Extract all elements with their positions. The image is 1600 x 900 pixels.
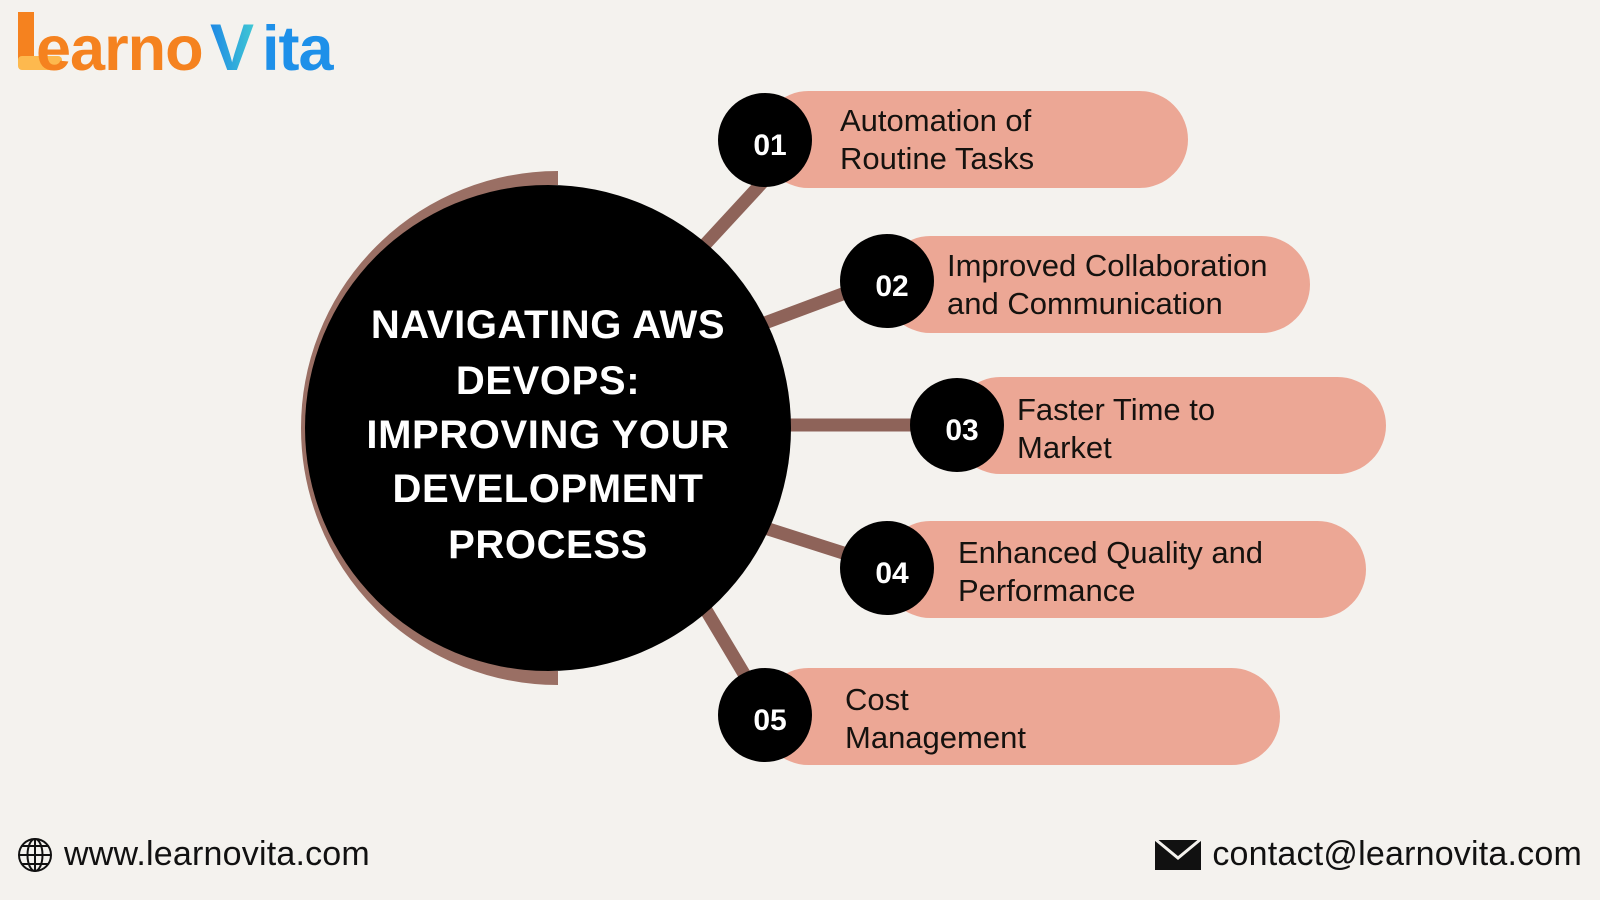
- brand-logo[interactable]: earno V ita: [14, 8, 384, 91]
- node-04[interactable]: 04: [840, 521, 934, 615]
- logo-earno-text: earno: [36, 14, 203, 80]
- node-05[interactable]: 05: [718, 668, 812, 762]
- globe-icon: [16, 836, 54, 874]
- hub-title-line-1: NAVIGATING AWS: [371, 303, 725, 347]
- footer-email[interactable]: contact@learnovita.com: [1154, 835, 1582, 874]
- node-01[interactable]: 01: [718, 93, 812, 187]
- infographic-canvas: NAVIGATING AWS DEVOPS: IMPROVING YOUR DE…: [0, 0, 1600, 900]
- logo-l-stem: [18, 12, 34, 62]
- logo-ita-text: ita: [262, 14, 334, 80]
- pill-label-01-line-1: Automation of: [840, 103, 1032, 138]
- envelope-icon: [1154, 837, 1202, 873]
- footer-website[interactable]: www.learnovita.com: [16, 835, 370, 874]
- pill-label-04-line-1: Enhanced Quality and: [958, 535, 1263, 570]
- node-02[interactable]: 02: [840, 234, 934, 328]
- pill-label-03-line-2: Market: [1017, 430, 1112, 465]
- pill-label-02-line-2: and Communication: [947, 286, 1223, 321]
- pill-label-03-line-1: Faster Time to: [1017, 392, 1215, 427]
- pill-label-01-line-2: Routine Tasks: [840, 141, 1034, 176]
- pill-label-05-line-1: Cost: [845, 682, 909, 717]
- node-number-05: 05: [753, 704, 786, 737]
- logo-wordmark: earno V ita: [14, 8, 384, 80]
- node-number-03: 03: [945, 414, 978, 447]
- node-number-02: 02: [875, 270, 908, 303]
- logo-v-text: V: [210, 10, 254, 80]
- hub-title-line-5: PROCESS: [448, 523, 648, 567]
- pill-label-05-line-2: Management: [845, 720, 1026, 755]
- node-03[interactable]: 03: [910, 378, 1004, 472]
- pill-label-02-line-1: Improved Collaboration: [947, 248, 1268, 283]
- pill-label-04-line-2: Performance: [958, 573, 1135, 608]
- footer-email-text: contact@learnovita.com: [1212, 835, 1582, 874]
- hub-title-line-4: DEVELOPMENT: [392, 467, 703, 511]
- hub-title-line-2: DEVOPS:: [456, 359, 640, 403]
- hub-title-line-3: IMPROVING YOUR: [366, 413, 729, 457]
- footer-website-text: www.learnovita.com: [64, 835, 370, 874]
- node-number-01: 01: [753, 129, 786, 162]
- node-number-04: 04: [875, 557, 909, 590]
